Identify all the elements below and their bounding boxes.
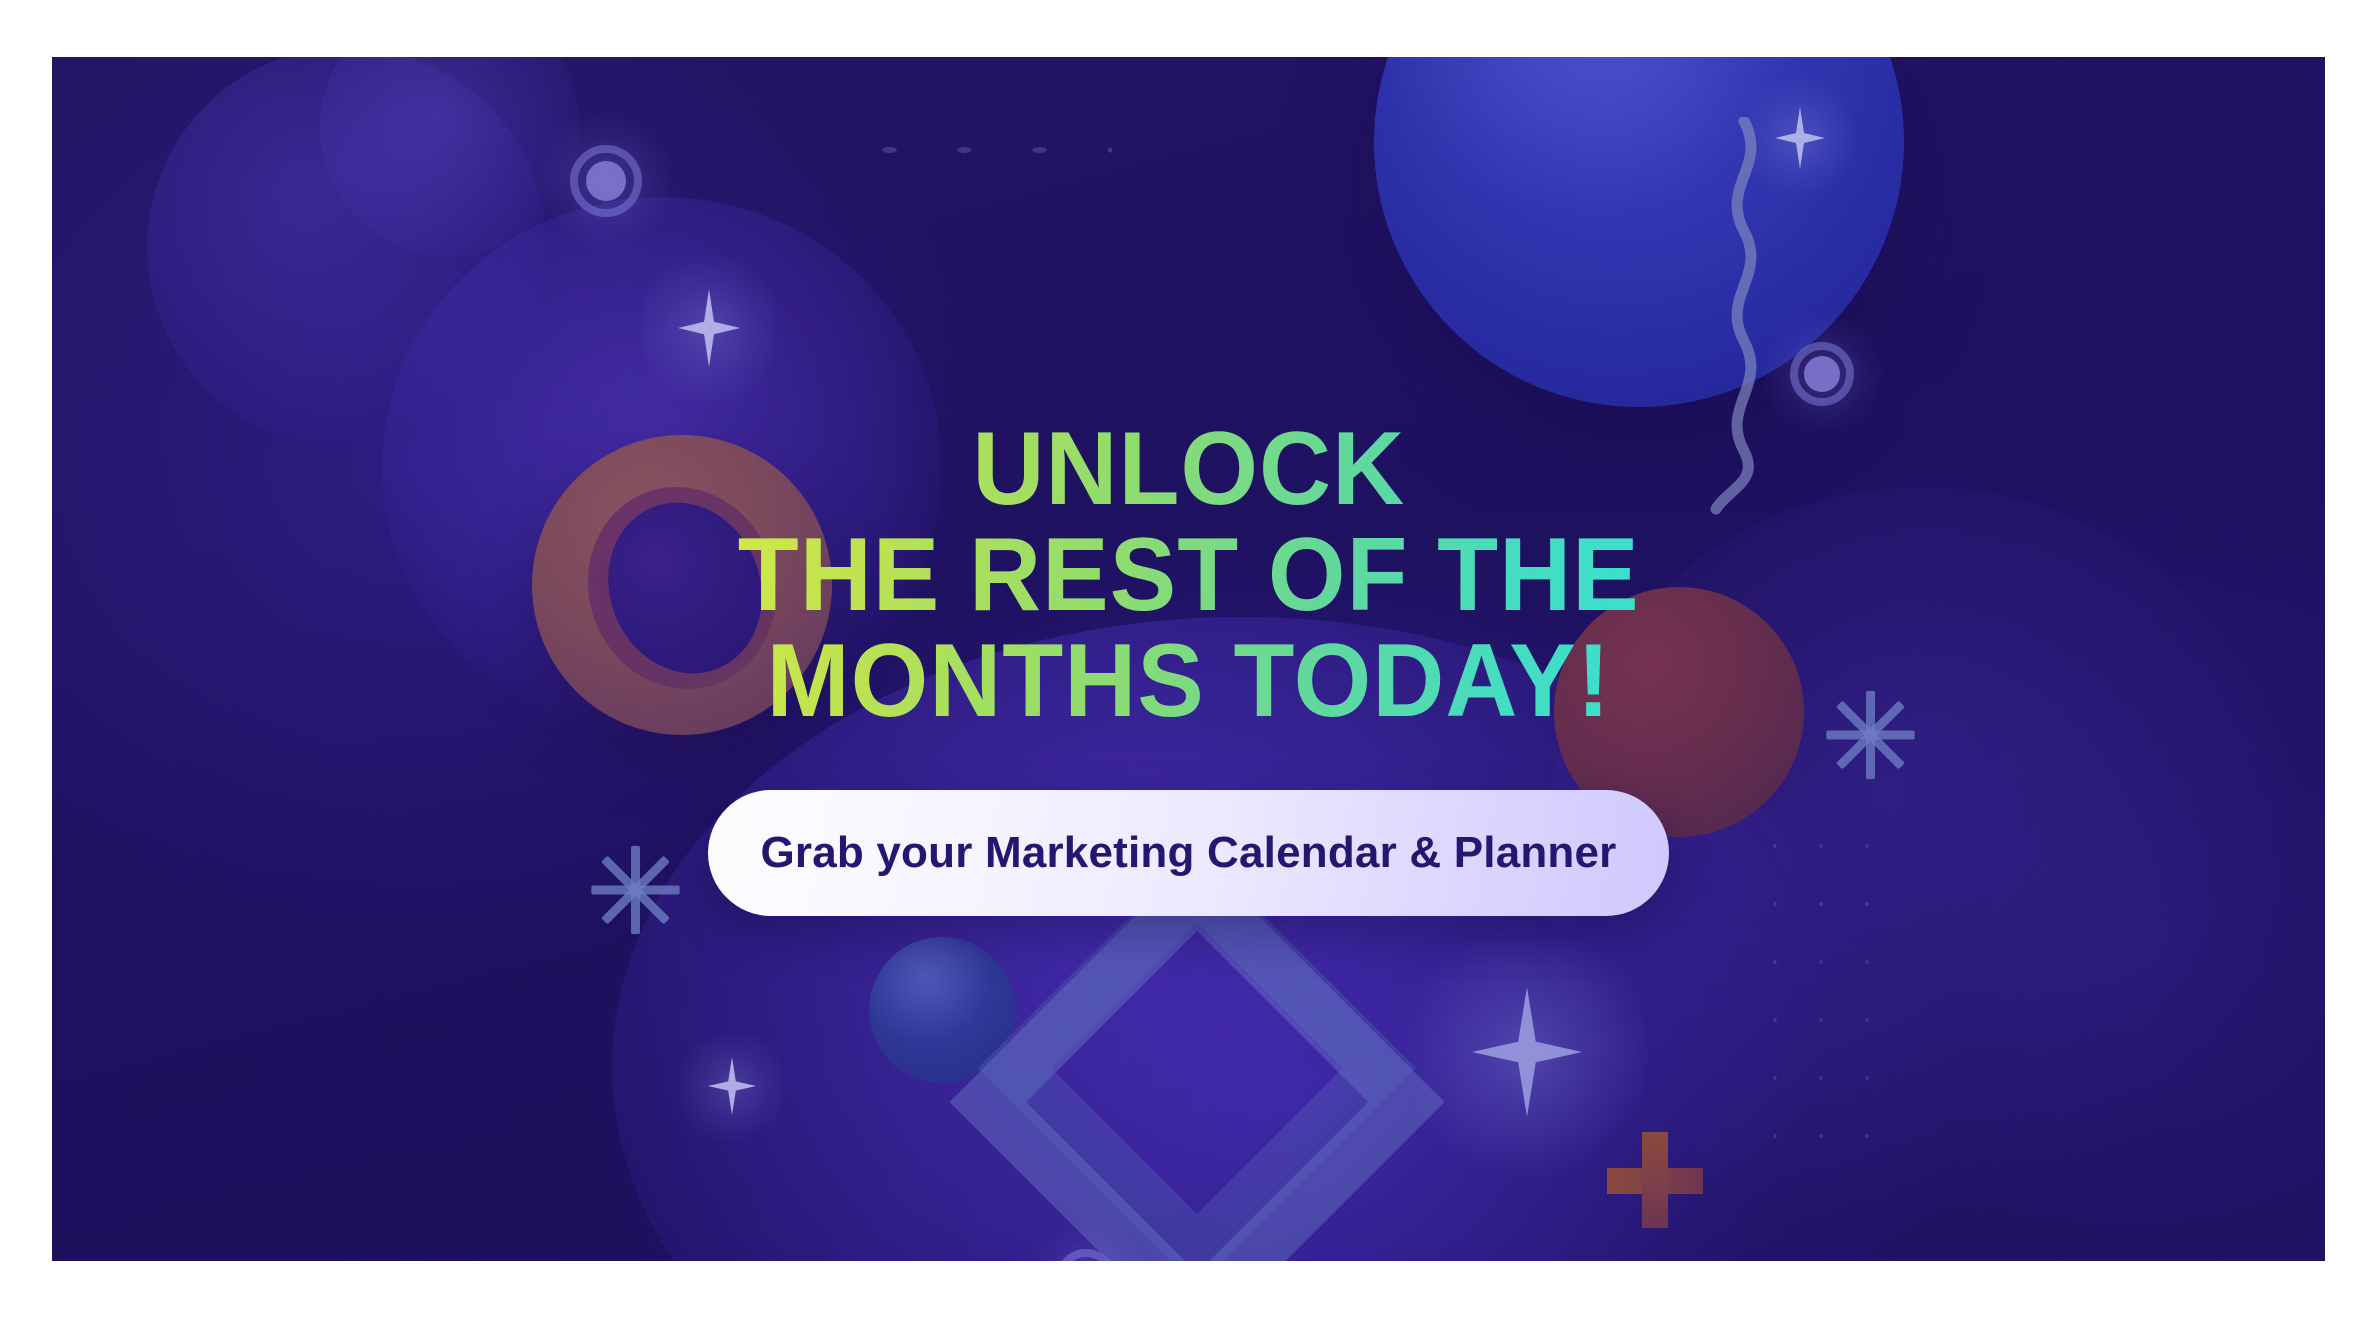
headline-line-3: MONTHS TODAY! [738, 628, 1640, 734]
headline-line-2: THE REST OF THE [738, 522, 1640, 628]
cta-grab-marketing-calendar-button[interactable]: Grab your Marketing Calendar & Planner [708, 790, 1668, 916]
page-title: UNLOCK THE REST OF THE MONTHS TODAY! [738, 416, 1640, 734]
promo-banner: UNLOCK THE REST OF THE MONTHS TODAY! Gra… [52, 57, 2325, 1261]
banner-content: UNLOCK THE REST OF THE MONTHS TODAY! Gra… [52, 57, 2325, 1261]
headline-line-1: UNLOCK [738, 416, 1640, 522]
